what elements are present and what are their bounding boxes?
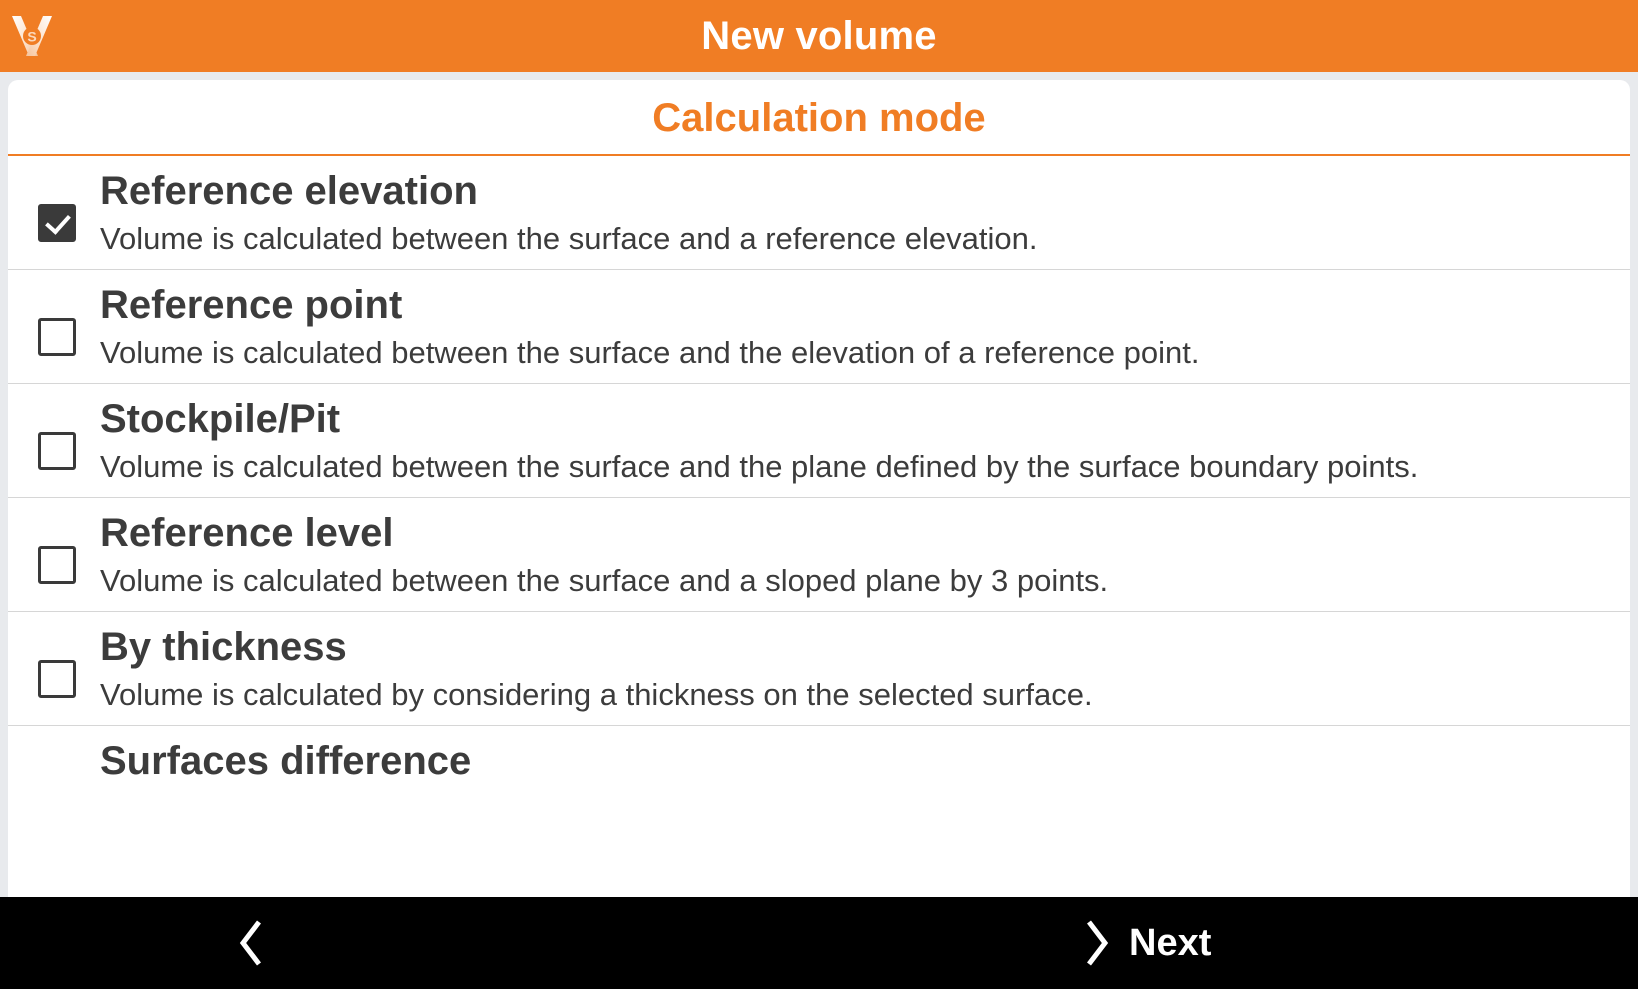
option-reference-point[interactable]: Reference point Volume is calculated bet… [8, 270, 1630, 384]
option-title: Reference point [100, 282, 1614, 329]
option-description: Volume is calculated between the surface… [100, 334, 1614, 373]
checkbox-checked-icon[interactable] [38, 204, 76, 242]
title-bar: S New volume [0, 0, 1638, 72]
option-text: Stockpile/Pit Volume is calculated betwe… [100, 396, 1614, 487]
option-text: By thickness Volume is calculated by con… [100, 624, 1614, 715]
option-description: Volume is calculated between the surface… [100, 448, 1614, 487]
option-title: Reference level [100, 510, 1614, 557]
option-title: Reference elevation [100, 168, 1614, 215]
chevron-left-icon [237, 919, 263, 967]
new-volume-screen: S New volume Calculation mode Reference … [0, 0, 1638, 989]
checkbox-unchecked-icon[interactable] [38, 660, 76, 698]
checkbox-unchecked-icon[interactable] [38, 318, 76, 356]
option-text: Surfaces difference [100, 738, 1614, 785]
option-stockpile-pit[interactable]: Stockpile/Pit Volume is calculated betwe… [8, 384, 1630, 498]
next-button-label: Next [1129, 924, 1211, 962]
back-button[interactable] [210, 903, 290, 983]
option-title: Surfaces difference [100, 738, 1614, 785]
card-container: Calculation mode Reference elevation Vol… [0, 72, 1638, 897]
option-by-thickness[interactable]: By thickness Volume is calculated by con… [8, 612, 1630, 726]
next-button[interactable]: Next [1085, 919, 1211, 967]
option-description: Volume is calculated between the surface… [100, 220, 1614, 259]
page-title: New volume [701, 16, 936, 56]
checkbox-unchecked-icon[interactable] [38, 546, 76, 584]
calculation-mode-list: Reference elevation Volume is calculated… [8, 156, 1630, 897]
option-description: Volume is calculated by considering a th… [100, 676, 1614, 715]
svg-text:S: S [27, 29, 36, 45]
option-title: Stockpile/Pit [100, 396, 1614, 443]
xs-logo-icon: S [4, 8, 60, 64]
option-reference-level[interactable]: Reference level Volume is calculated bet… [8, 498, 1630, 612]
option-surfaces-difference[interactable]: Surfaces difference [8, 726, 1630, 838]
option-text: Reference elevation Volume is calculated… [100, 168, 1614, 259]
option-description: Volume is calculated between the surface… [100, 562, 1614, 601]
bottom-navigation-bar: Next [0, 897, 1638, 989]
option-text: Reference level Volume is calculated bet… [100, 510, 1614, 601]
calculation-mode-card: Calculation mode Reference elevation Vol… [8, 80, 1630, 897]
chevron-right-icon [1085, 919, 1111, 967]
section-header-label: Calculation mode [8, 96, 1630, 140]
section-header: Calculation mode [8, 80, 1630, 156]
checkbox-unchecked-icon[interactable] [38, 432, 76, 470]
option-title: By thickness [100, 624, 1614, 671]
option-reference-elevation[interactable]: Reference elevation Volume is calculated… [8, 156, 1630, 270]
option-text: Reference point Volume is calculated bet… [100, 282, 1614, 373]
